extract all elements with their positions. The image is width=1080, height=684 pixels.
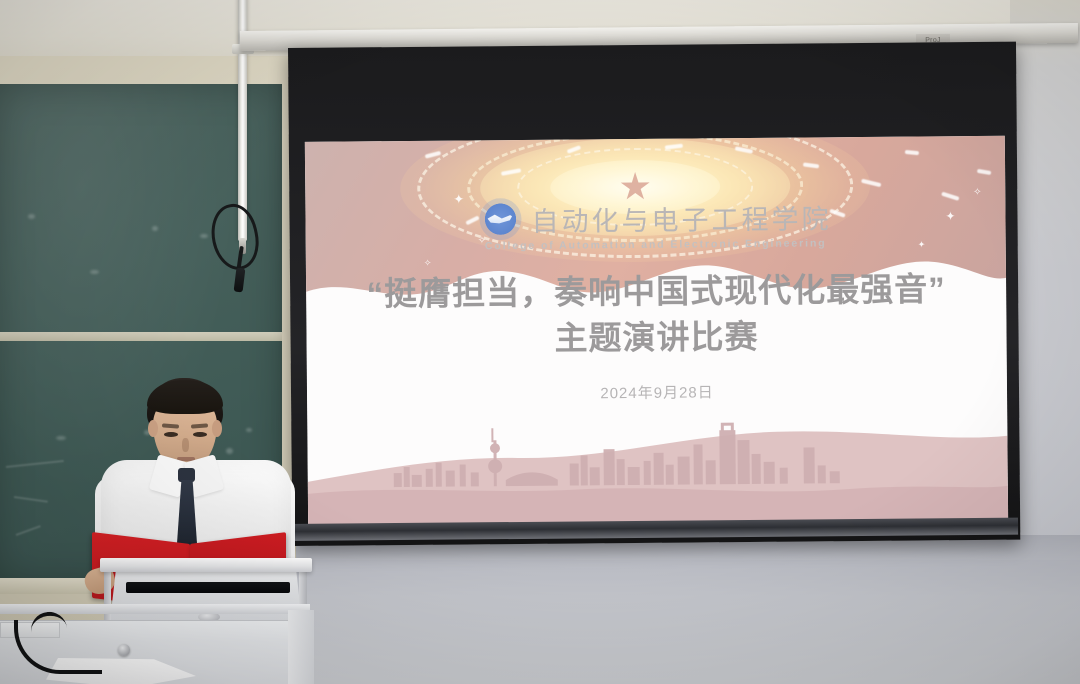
projection-screen: ✦✧✦✧✧✦: [288, 42, 1020, 546]
college-emblem-icon: [479, 198, 521, 240]
chalk-scratch: [6, 460, 64, 468]
organization-row: 自动化与电子工程学院: [305, 194, 1005, 242]
speaker-eye-left: [164, 432, 178, 437]
presentation-slide: ✦✧✦✧✧✦: [305, 136, 1008, 528]
podium-top-surface: [100, 558, 312, 572]
speaker-eye-right: [193, 432, 207, 437]
podium-slot: [126, 582, 290, 593]
slide-date: 2024年9月28日: [307, 379, 1007, 406]
chalk-smudge: [90, 270, 99, 274]
chalk-scratch: [16, 525, 41, 536]
speaker-hair-front: [147, 380, 223, 414]
classroom-photo-scene: ProJ ✦✧✦✧✧✦: [0, 0, 1080, 684]
chalkboard-seam: [0, 332, 282, 341]
chalk-smudge: [152, 226, 158, 231]
speaker-ear-left: [148, 420, 158, 437]
speaker-nose: [182, 438, 189, 452]
chalk-smudge: [56, 436, 66, 440]
desk-side-panel: [288, 610, 314, 684]
speaker-ear-right: [212, 420, 222, 437]
desk-lock-icon[interactable]: [118, 644, 130, 656]
chalk-smudge: [28, 214, 35, 219]
slide-title-line2: 主题演讲比赛: [306, 308, 1006, 362]
slide-text-content: 自动化与电子工程学院 College of Automation and Ele…: [305, 136, 1008, 528]
necktie-knot: [178, 468, 195, 482]
organization-name-cn: 自动化与电子工程学院: [531, 197, 831, 239]
chalk-smudge: [200, 234, 208, 238]
chalk-scratch: [14, 496, 48, 503]
